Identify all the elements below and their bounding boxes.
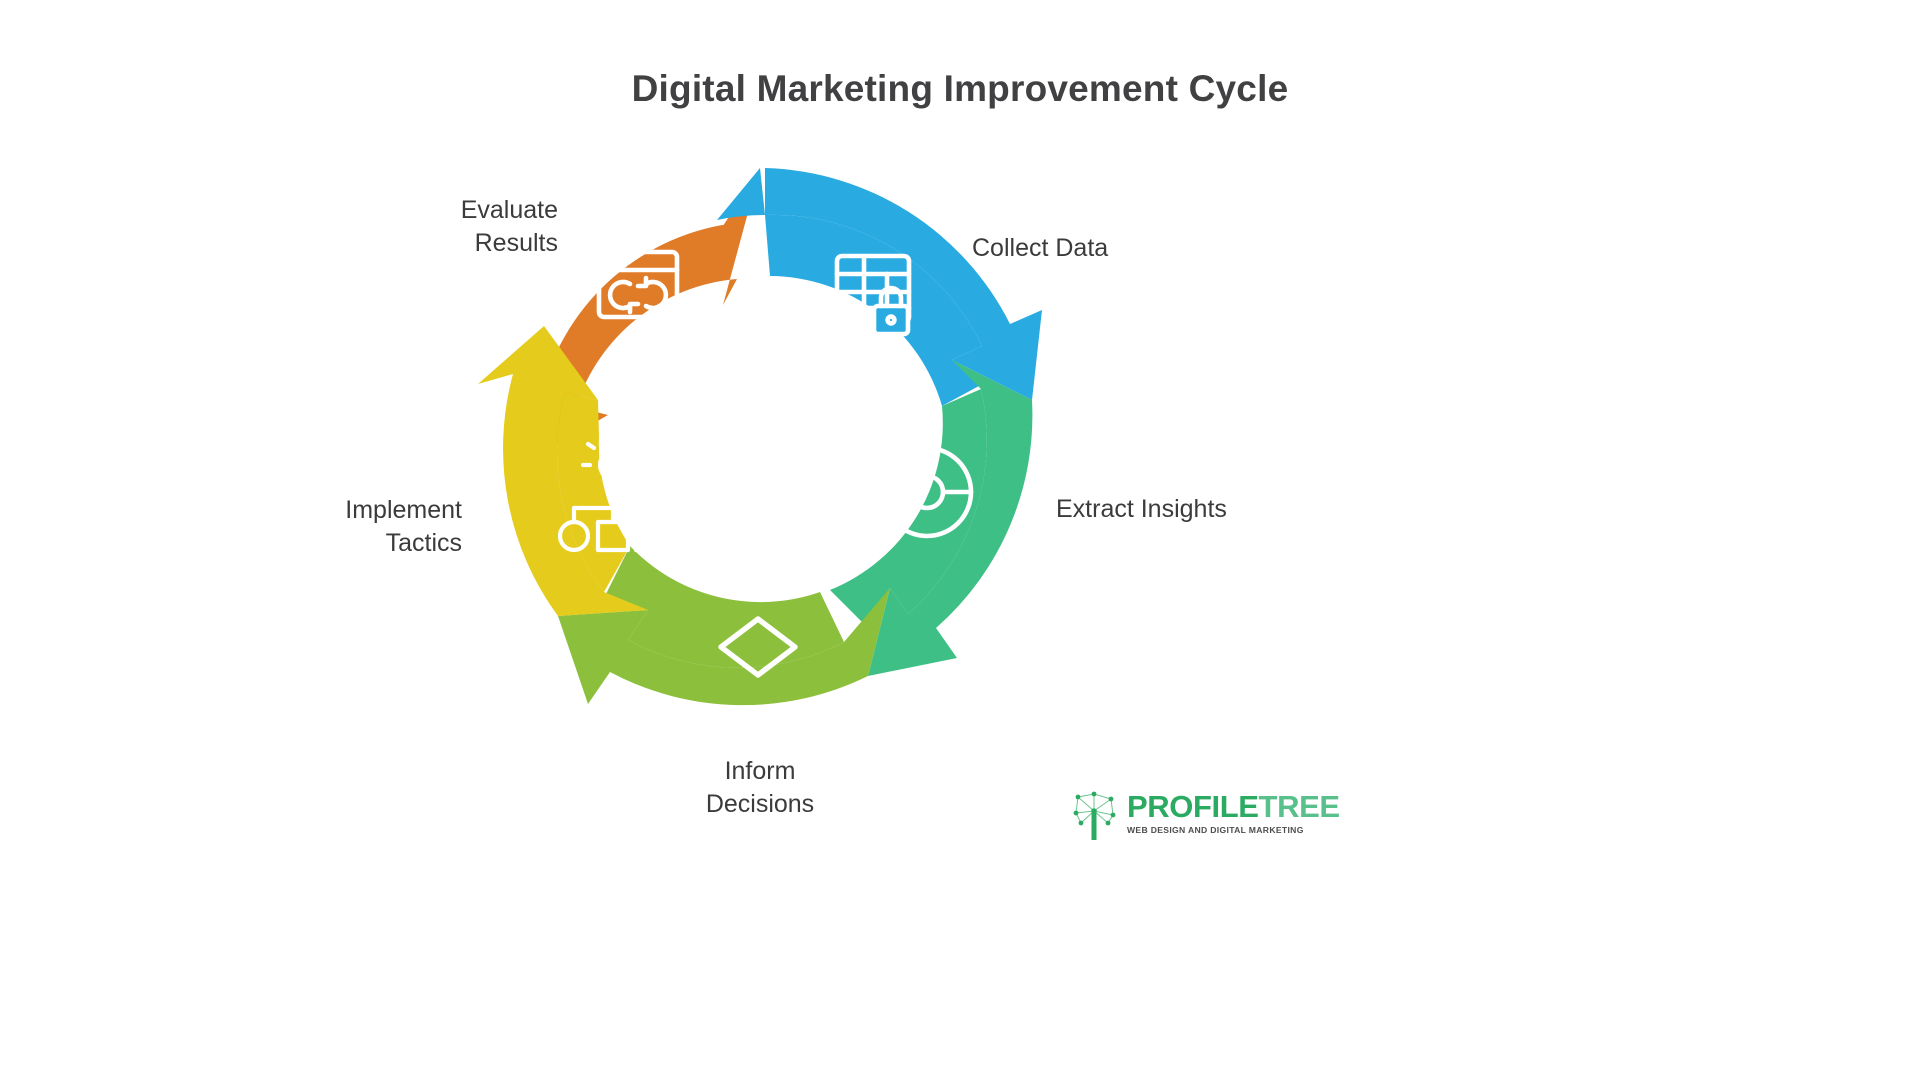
logo-text: PROFILETREE WEB DESIGN AND DIGITAL MARKE… <box>1127 791 1340 835</box>
label-collect-data: Collect Data <box>972 232 1272 265</box>
logo-wordmark: PROFILETREE <box>1127 791 1340 822</box>
label-extract-insights: Extract Insights <box>1056 493 1386 526</box>
page-title: Digital Marketing Improvement Cycle <box>0 68 1920 110</box>
logo-tagline: WEB DESIGN AND DIGITAL MARKETING <box>1127 825 1340 835</box>
label-inform-decisions: Inform Decisions <box>630 755 890 820</box>
label-evaluate-results: Evaluate Results <box>300 194 558 259</box>
tree-network-icon <box>1068 785 1120 841</box>
profiletree-logo[interactable]: PROFILETREE WEB DESIGN AND DIGITAL MARKE… <box>1068 782 1318 844</box>
segment-collect-data[interactable] <box>717 168 1042 406</box>
label-implement-tactics: Implement Tactics <box>200 494 462 559</box>
logo-word-tree: TREE <box>1259 789 1340 824</box>
diagram-canvas: Digital Marketing Improvement Cycle <box>0 0 1920 1080</box>
logo-word-profile: PROFILE <box>1127 789 1259 824</box>
